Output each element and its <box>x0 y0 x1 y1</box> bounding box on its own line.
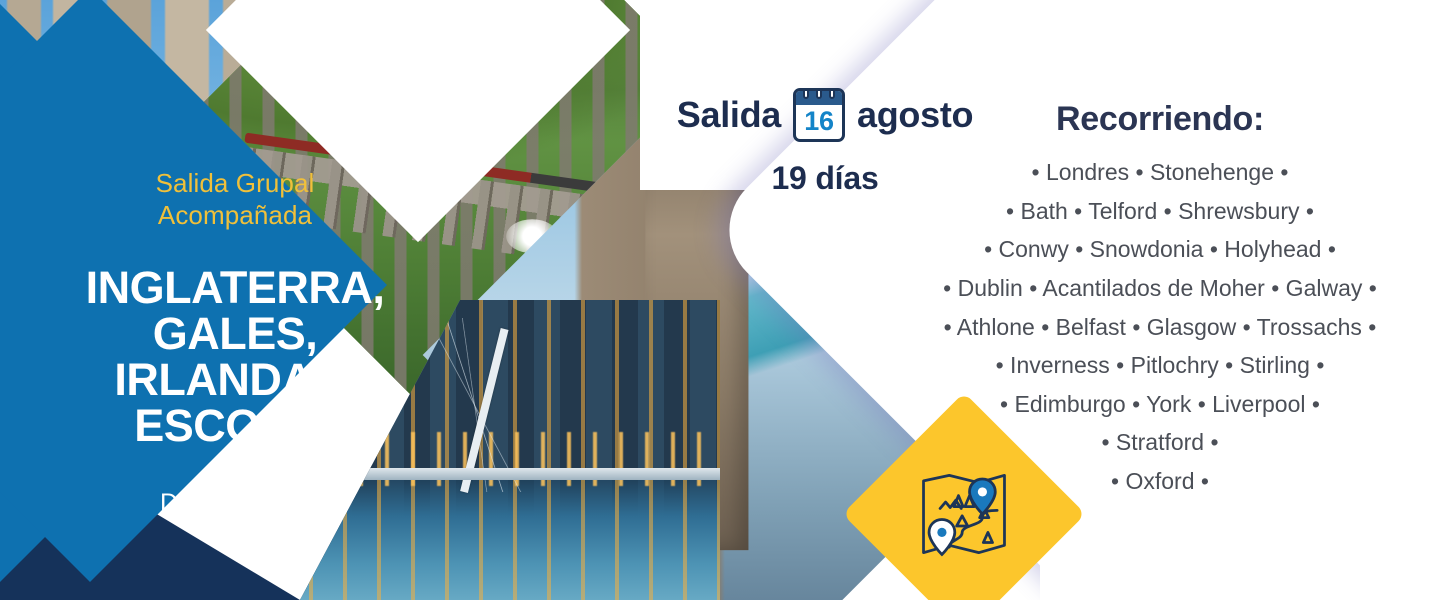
itinerary-line: • Bath • Telford • Shrewsbury • <box>880 192 1440 231</box>
map-badge <box>878 428 1050 600</box>
itinerary-line: • Conwy • Snowdonia • Holyhead • <box>880 230 1440 269</box>
itinerary-line: • Dublin • Acantilados de Moher • Galway… <box>880 269 1440 308</box>
travel-promo-banner: Salida Grupal Acompañada INGLATERRA, GAL… <box>0 0 1440 600</box>
calendar-rings <box>796 88 842 99</box>
folded-map-with-route-icon <box>918 468 1010 560</box>
title-line-2: GALES, <box>86 311 385 357</box>
itinerary-line: • Londres • Stonehenge • <box>880 153 1440 192</box>
departure-city-label: Desde Bs. As <box>160 489 310 518</box>
calendar-icon: 16 <box>793 88 845 142</box>
bridge-deck <box>300 468 720 480</box>
kicker-line-1: Salida Grupal <box>156 168 315 200</box>
itinerary-line: • Inverness • Pitlochry • Stirling • <box>880 346 1440 385</box>
departure-prefix-label: Salida <box>677 94 781 136</box>
kicker-text: Salida Grupal Acompañada <box>156 168 315 231</box>
kicker-line-2: Acompañada <box>156 200 315 232</box>
map-pin-filled-icon <box>970 479 996 514</box>
calendar-day-number: 16 <box>796 104 842 139</box>
page-title: INGLATERRA, GALES, IRLANDA & ESCOCIA <box>86 265 385 449</box>
itinerary-line: • Athlone • Belfast • Glasgow • Trossach… <box>880 308 1440 347</box>
itinerary-heading: Recorriendo: <box>880 100 1440 139</box>
title-line-4: ESCOCIA <box>86 403 385 449</box>
title-line-1: INGLATERRA, <box>86 265 385 311</box>
title-line-3: IRLANDA & <box>86 357 385 403</box>
